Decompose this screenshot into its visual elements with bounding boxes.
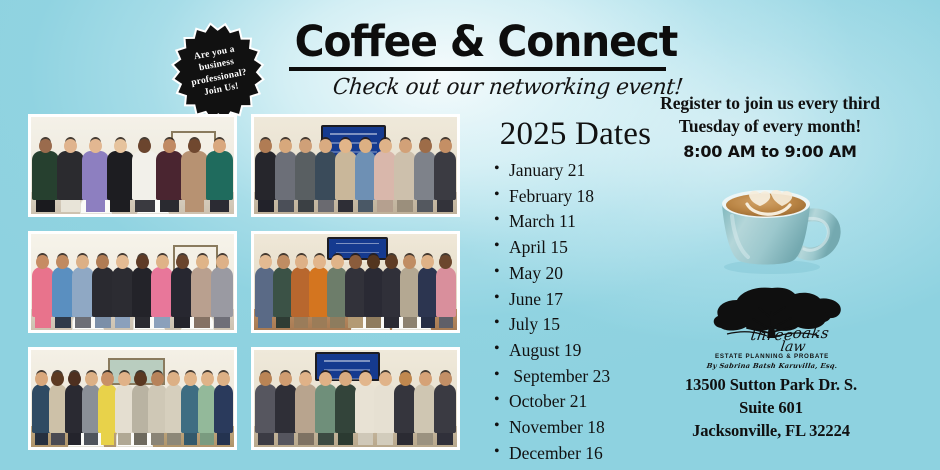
coffee-cup-graphic: [706, 172, 846, 274]
group-photo-4: [251, 231, 460, 334]
page-title: Coffee & Connect: [295, 21, 661, 64]
group-photo-5: [28, 347, 237, 450]
date-item-3: March 11: [509, 209, 673, 235]
date-item-6: June 17: [509, 287, 673, 313]
logo-byline: By Sabrina Batsh Karuvilla, Esq.: [696, 362, 847, 370]
date-item-11: November 18: [509, 415, 673, 441]
three-oaks-law-logo: three oaks law ESTATE PLANNING & PROBATE…: [697, 286, 847, 374]
group-photo-6: [251, 347, 460, 450]
date-item-10: October 21: [509, 389, 673, 415]
starburst-badge: Are you a business professional? Join Us…: [161, 15, 275, 129]
date-item-2: February 18: [509, 184, 673, 210]
date-item-1: January 21: [509, 158, 673, 184]
address-line-1: 13500 Sutton Park Dr. S.: [655, 374, 887, 397]
register-block: Register to join us every third Tuesday …: [650, 92, 890, 164]
date-item-12: December 16: [509, 441, 673, 467]
page-subtitle: Check out our networking event!: [332, 76, 614, 100]
photo-people: [33, 132, 232, 211]
photo-people: [33, 249, 232, 328]
title-underline: [289, 67, 666, 71]
address-line-2: Suite 601: [655, 397, 887, 420]
group-photo-3: [28, 231, 237, 334]
register-time: 8:00 AM to 9:00 AM: [650, 140, 890, 164]
photo-people: [256, 366, 455, 445]
date-item-5: May 20: [509, 261, 673, 287]
logo-tagline: ESTATE PLANNING & PROBATE: [697, 353, 847, 360]
date-item-7: July 15: [509, 312, 673, 338]
register-line-1: Register to join us every third: [650, 92, 890, 115]
date-item-8: August 19: [509, 338, 673, 364]
dates-block: 2025 Dates January 21 February 18 March …: [478, 118, 673, 467]
group-photo-2: [251, 114, 460, 217]
coffee-cup-icon: [706, 172, 846, 274]
register-line-2: Tuesday of every month!: [650, 115, 890, 138]
dates-heading: 2025 Dates: [478, 118, 673, 151]
address-line-3: Jacksonville, FL 32224: [655, 420, 887, 443]
photo-people: [33, 366, 232, 445]
photo-people: [256, 132, 455, 211]
dates-list: January 21 February 18 March 11 April 15…: [478, 158, 673, 467]
address-block: 13500 Sutton Park Dr. S. Suite 601 Jacks…: [655, 374, 887, 442]
flyer-canvas: Are you a business professional? Join Us…: [0, 0, 940, 470]
photo-grid: [28, 114, 460, 450]
group-photo-1: [28, 114, 237, 217]
date-item-4: April 15: [509, 235, 673, 261]
photo-people: [256, 249, 455, 328]
date-item-9: September 23: [509, 364, 673, 390]
